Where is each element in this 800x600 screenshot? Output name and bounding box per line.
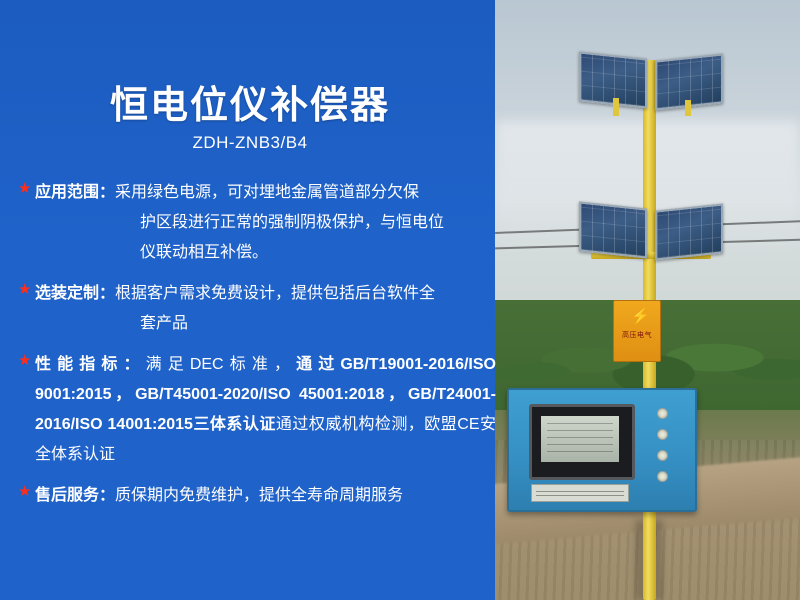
warning-label: 高压电气 [614, 331, 660, 340]
feature-paragraph: 售后服务：质保期内免费维护，提供全寿命周期服务 [18, 481, 496, 511]
feature-label: 应用范围： [35, 184, 115, 201]
product-photo: ⚡ 高压电气 [495, 0, 800, 600]
feature-block-performance: ★ 性能指标：满足DEC标准，通过GB/T19001-2016/ISO 9001… [18, 350, 496, 470]
feature-label: 性能指标： [35, 356, 146, 373]
star-bullet-icon: ★ [18, 179, 34, 199]
model-subtitle: ZDH-ZNB3/B4 [0, 133, 500, 153]
feature-line: 套产品 [18, 309, 496, 339]
lightning-bolt-icon: ⚡ [631, 309, 643, 325]
cabinet-nameplate [531, 484, 629, 502]
feature-paragraph: 应用范围：采用绿色电源，可对埋地金属管道部分欠保 [18, 178, 496, 208]
display-screen-surface [541, 416, 619, 462]
feature-label: 售后服务： [35, 487, 115, 504]
feature-lead-text: 满足DEC标准， [146, 356, 297, 373]
feature-line: 质保期内免费维护，提供全寿命周期服务 [115, 487, 403, 504]
feature-block-service: ★ 售后服务：质保期内免费维护，提供全寿命周期服务 [18, 481, 496, 511]
poster-text-column: 恒电位仪补偿器 ZDH-ZNB3/B4 ★ 应用范围：采用绿色电源，可对埋地金属… [0, 0, 500, 600]
page-title: 恒电位仪补偿器 [0, 74, 500, 129]
star-bullet-icon: ★ [18, 280, 34, 300]
feature-line: 根据客户需求免费设计，提供包括后台软件全 [115, 285, 435, 302]
solar-panel [579, 201, 647, 258]
feature-line: 采用绿色电源，可对埋地金属管道部分欠保 [115, 184, 419, 201]
feature-line: 护区段进行正常的强制阴极保护，与恒电位 [18, 208, 496, 238]
cabinet-display [529, 404, 635, 480]
star-bullet-icon: ★ [18, 482, 34, 502]
feature-paragraph: 性能指标：满足DEC标准，通过GB/T19001-2016/ISO 9001:2… [18, 350, 496, 470]
controller-cabinet [507, 388, 697, 512]
indicator-led [657, 471, 668, 482]
indicator-led [657, 408, 668, 419]
feature-block-list: ★ 应用范围：采用绿色电源，可对埋地金属管道部分欠保 护区段进行正常的强制阴极保… [18, 178, 496, 522]
feature-block-customization: ★ 选装定制：根据客户需求免费设计，提供包括后台软件全 套产品 [18, 279, 496, 339]
indicator-led-group [657, 408, 679, 480]
warning-box: ⚡ 高压电气 [613, 300, 661, 362]
solar-panel-mount [613, 98, 619, 116]
feature-label: 选装定制： [35, 285, 115, 302]
product-poster: ⚡ 高压电气 恒电位仪补偿器 ZDH-ZNB3/B4 ★ 应用范 [0, 0, 800, 600]
solar-panel-mount [685, 100, 691, 116]
star-bullet-icon: ★ [18, 351, 34, 371]
indicator-led [657, 429, 668, 440]
solar-panel [655, 203, 723, 260]
feature-block-application: ★ 应用范围：采用绿色电源，可对埋地金属管道部分欠保 护区段进行正常的强制阴极保… [18, 178, 496, 268]
feature-paragraph: 选装定制：根据客户需求免费设计，提供包括后台软件全 [18, 279, 496, 309]
indicator-led [657, 450, 668, 461]
feature-line: 仪联动相互补偿。 [18, 238, 496, 268]
